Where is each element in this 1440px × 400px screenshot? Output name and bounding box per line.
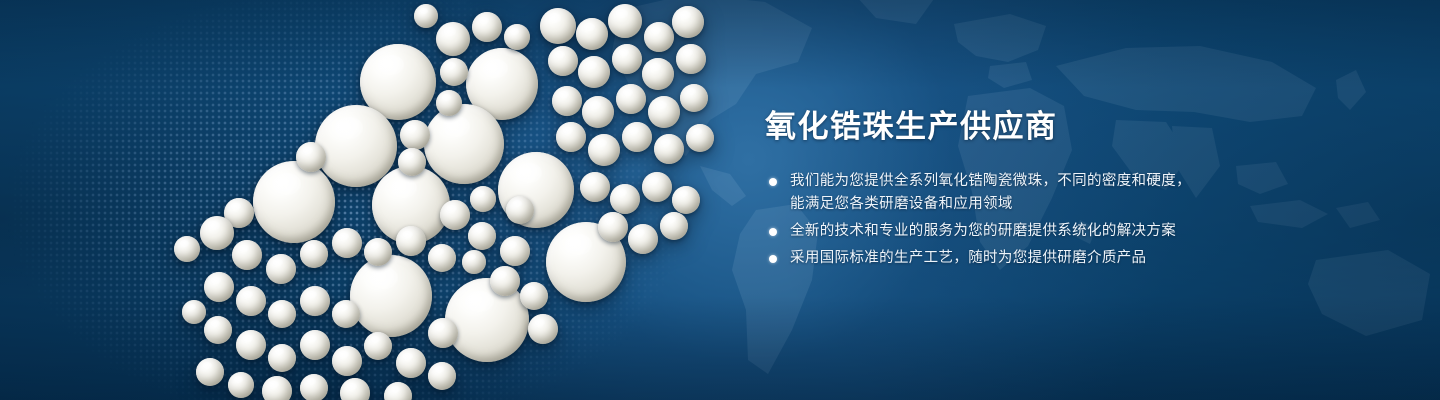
list-item: 采用国际标准的生产工艺，随时为您提供研磨介质产品 [765, 247, 1191, 270]
bullet-dot-icon [769, 228, 777, 236]
bullet-dot-icon [769, 255, 777, 263]
list-item: 全新的技术和专业的服务为您的研磨提供系统化的解决方案 [765, 220, 1191, 243]
list-item-line: 我们能为您提供全系列氧化锆陶瓷微珠，不同的密度和硬度， [790, 170, 1191, 193]
list-item: 我们能为您提供全系列氧化锆陶瓷微珠，不同的密度和硬度， 能满足您各类研磨设备和应… [765, 170, 1191, 216]
benefits-list: 我们能为您提供全系列氧化锆陶瓷微珠，不同的密度和硬度， 能满足您各类研磨设备和应… [765, 170, 1191, 274]
banner-headline: 氧化锆珠生产供应商 [765, 108, 1058, 147]
list-item-line: 采用国际标准的生产工艺，随时为您提供研磨介质产品 [790, 247, 1191, 270]
list-item-line: 能满足您各类研磨设备和应用领域 [790, 193, 1191, 216]
bullet-dot-icon [769, 178, 777, 186]
list-item-line: 全新的技术和专业的服务为您的研磨提供系统化的解决方案 [790, 220, 1191, 243]
hero-banner: 氧化锆珠生产供应商 我们能为您提供全系列氧化锆陶瓷微珠，不同的密度和硬度， 能满… [0, 0, 1440, 400]
banner-copy: 氧化锆珠生产供应商 我们能为您提供全系列氧化锆陶瓷微珠，不同的密度和硬度， 能满… [765, 0, 1385, 400]
